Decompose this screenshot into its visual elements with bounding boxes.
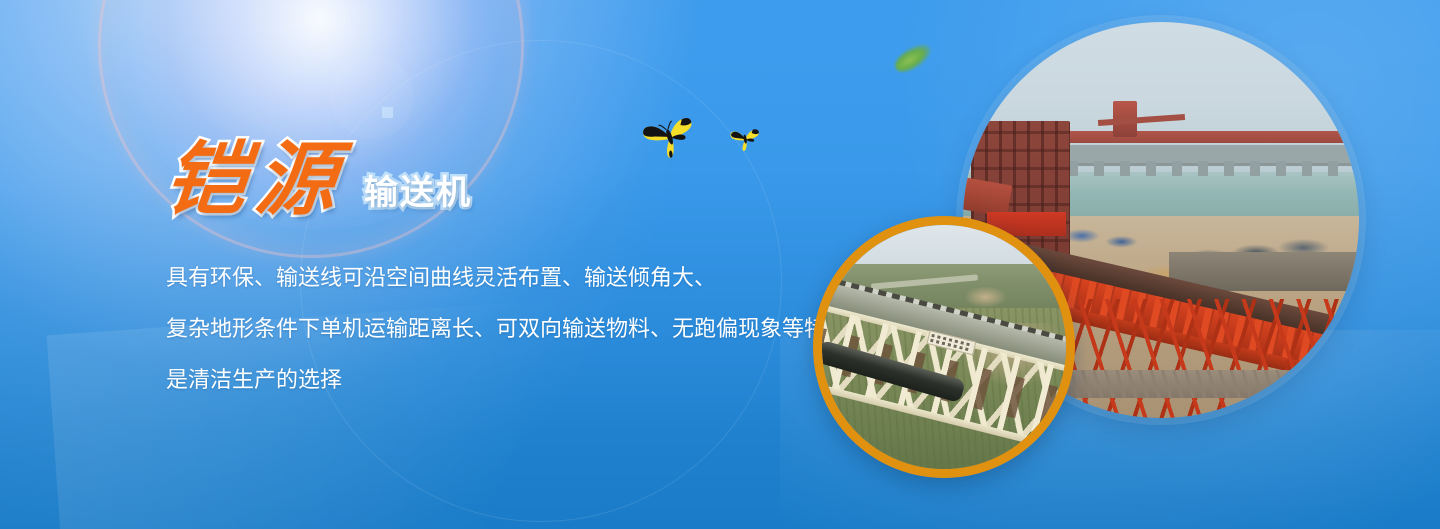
lens-bubble-icon [330,55,414,139]
butterfly-icon [729,124,761,152]
leaf-icon [891,39,936,77]
photo-jetty-piers [1042,161,1351,177]
hero-banner: 铠源 输送机 具有环保、输送线可沿空间曲线灵活布置、输送倾角大、 复杂地形条件下… [0,0,1440,529]
banner-headline: 铠源 输送机 [166,140,472,220]
brand-name: 铠源 [162,140,350,220]
butterfly-icon [641,111,697,159]
lens-dot-icon [382,107,393,118]
description-line-1: 具有环保、输送线可沿空间曲线灵活布置、输送倾角大、 [166,253,936,304]
secondary-photo-circle [813,216,1075,478]
secondary-photo [822,225,1066,469]
photo-conveyor-legs [1034,299,1359,418]
photo-distant-conveyor [1042,131,1359,143]
photo-rail-track [1066,370,1359,398]
photo2-hill-patch [964,286,1008,308]
brand-subtitle: 输送机 [364,176,472,210]
